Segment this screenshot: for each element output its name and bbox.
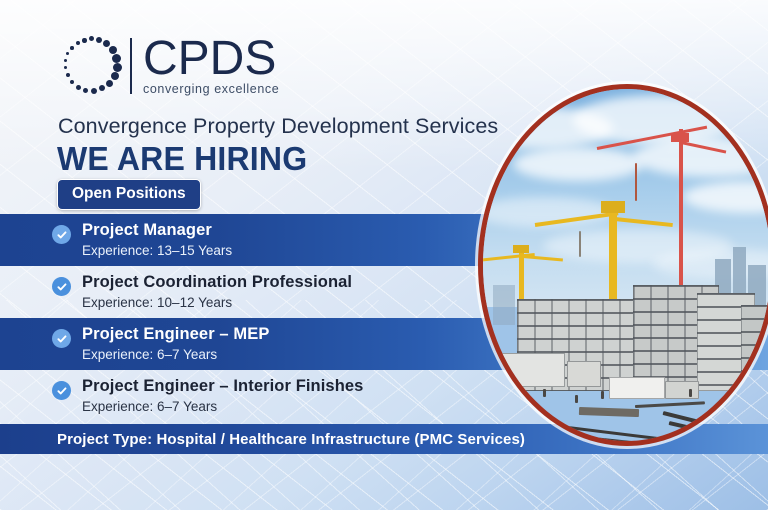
check-circle-icon [52,381,71,400]
check-circle-icon [52,329,71,348]
position-experience: Experience: 6–7 Years [82,398,363,415]
position-title: Project Manager [82,221,232,240]
company-name: Convergence Property Development Service… [58,114,498,139]
logo-tagline: converging excellence [143,82,279,96]
position-experience: Experience: 13–15 Years [82,242,232,259]
position-title: Project Engineer – Interior Finishes [82,377,363,396]
logo-wordmark: CPDS [143,37,279,81]
construction-photo [478,84,768,446]
project-type-text: Project Type: Hospital / Healthcare Infr… [57,431,525,448]
position-experience: Experience: 10–12 Years [82,294,352,311]
position-title: Project Coordination Professional [82,273,352,292]
check-circle-icon [52,225,71,244]
hiring-poster: Project Manager Experience: 13–15 Years … [0,0,768,510]
logo-divider [130,38,132,94]
page-title: WE ARE HIRING [57,140,307,178]
cpds-logo: CPDS converging excellence [62,33,279,99]
position-title: Project Engineer – MEP [82,325,269,344]
position-experience: Experience: 6–7 Years [82,346,269,363]
open-positions-badge: Open Positions [57,179,201,210]
logo-dot-ring-icon [62,36,124,96]
check-circle-icon [52,277,71,296]
